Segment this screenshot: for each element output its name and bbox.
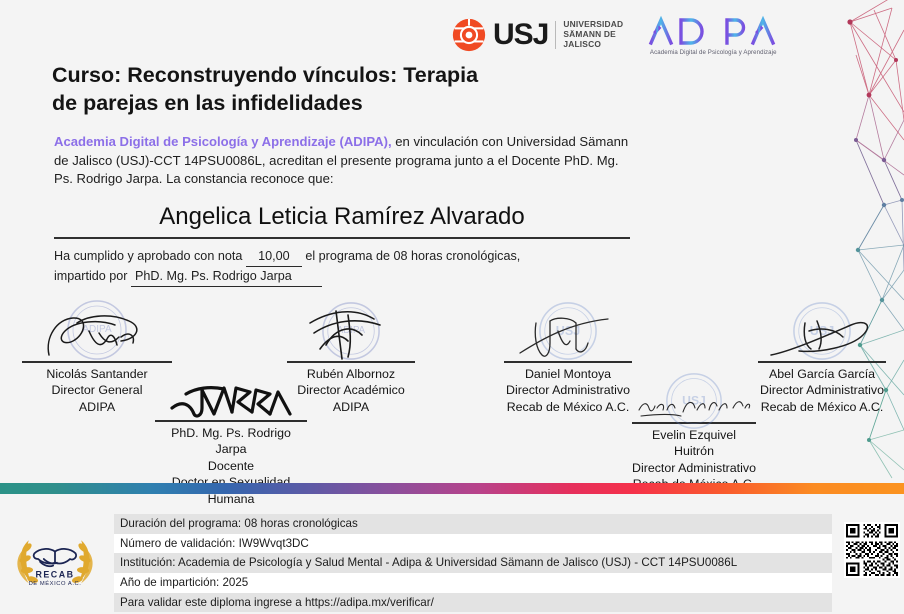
recipient-underline [54,237,630,239]
adipa-wordmark-icon [647,14,779,46]
intro-adipa-highlight: Academia Digital de Psicología y Aprendi… [54,134,392,149]
usj-emblem-icon [452,18,486,52]
approval-text-after-grade: el programa de 08 horas cronológicas, [302,249,520,263]
signer-org: Recab de México A.C. [758,399,886,416]
usj-name-line-3: JALISCO [563,40,623,50]
adipa-logo: Academia Digital de Psicología y Aprendi… [647,14,779,56]
signer-name: Nicolás Santander [22,366,172,383]
program-details-list: Duración del programa: 08 horas cronológ… [114,514,832,612]
signer-org: ADIPA [22,399,172,416]
approval-line-1: Ha cumplido y aprobado con nota 10,00 el… [54,247,634,267]
signature-mark-area: ADIPA [287,305,415,361]
detail-row: Duración del programa: 08 horas cronológ… [114,514,832,534]
teacher-value: PhD. Mg. Ps. Rodrigo Jarpa [131,267,322,287]
signature-mark-area: USJ [632,380,756,422]
signer-role: Docente [155,458,307,475]
recab-subtitle: DE MÉXICO A.C. [29,580,82,587]
signature-mark-area: USJ [758,305,886,361]
signer-org: Recab de México A.C. [504,399,632,416]
logo-divider [555,21,556,49]
usj-acronym: USJ [493,20,548,50]
approval-text-before-teacher: impartido por [54,269,131,283]
recipient-name: Angelica Leticia Ramírez Alvarado [54,203,630,231]
detail-row: Institución: Academia de Psicología y Sa… [114,553,832,573]
grade-value: 10,00 [246,247,302,267]
signer-role: Director General [22,382,172,399]
signature-block-daniel-montoya: USJ Daniel Montoya Director Administrati… [504,305,632,415]
intro-paragraph: Academia Digital de Psicología y Aprendi… [54,133,629,189]
signature-line [287,361,415,363]
usj-logo: USJ UNIVERSIDAD SÄMANN DE JALISCO [452,18,623,52]
approval-text-before-grade: Ha cumplido y aprobado con nota [54,249,246,263]
signer-name: Evelin Ezquivel Huitrón [632,427,756,460]
detail-row: Número de validación: IW9Wvqt3DC [114,534,832,554]
handwritten-signature-icon [765,311,879,361]
signature-mark-area: USJ [504,305,632,361]
signer-name: Daniel Montoya [504,366,632,383]
page-title: Curso: Reconstruyendo vínculos: Terapia … [52,62,482,117]
color-gradient-strip [0,483,904,494]
signature-mark-area: ADIPA [22,305,172,361]
signature-block-abel-garcia: USJ Abel García García Director Administ… [758,305,886,415]
header-logos: USJ UNIVERSIDAD SÄMANN DE JALISCO [452,14,779,56]
certificate-page: USJ UNIVERSIDAD SÄMANN DE JALISCO [0,0,904,614]
signer-role: Director Administrativo [504,382,632,399]
signature-block-evelin-ezquivel: USJ Evelin Ezquivel Huitrón Director Adm… [632,380,756,493]
network-decoration-graphic [774,0,904,500]
recab-title: RECAB [35,570,74,580]
signature-mark-area [155,378,307,420]
detail-row: Para validar este diploma ingrese a http… [114,593,832,613]
handwritten-signature-icon [635,390,753,420]
handwritten-signature-icon [296,305,406,361]
approval-line-2: impartido por PhD. Mg. Ps. Rodrigo Jarpa [54,267,634,287]
handwritten-signature-icon [166,380,296,420]
course-title-line-1: Curso: Reconstruyendo vínculos: Terapia [52,62,482,90]
detail-row: Año de impartición: 2025 [114,573,832,593]
signer-name: PhD. Mg. Ps. Rodrigo Jarpa [155,425,307,458]
signature-line [22,361,172,363]
signer-role: Director Administrativo [758,382,886,399]
signature-line [758,361,886,363]
handwritten-signature-icon [512,309,624,361]
signature-line [504,361,632,363]
usj-full-name: UNIVERSIDAD SÄMANN DE JALISCO [563,20,623,50]
signer-role: Director Administrativo [632,460,756,477]
qr-code[interactable] [844,514,900,586]
signature-block-nicolas-santander: ADIPA Nicolás Santander Director General… [22,305,172,415]
recab-logo: RECAB DE MÉXICO A.C. [8,516,102,602]
course-title-line-2: de parejas en las infidelidades [52,90,482,118]
signer-name: Abel García García [758,366,886,383]
adipa-tagline: Academia Digital de Psicología y Aprendi… [650,49,777,56]
handwritten-signature-icon [37,309,157,361]
approval-statement: Ha cumplido y aprobado con nota 10,00 el… [54,247,634,287]
signature-line [155,420,307,422]
